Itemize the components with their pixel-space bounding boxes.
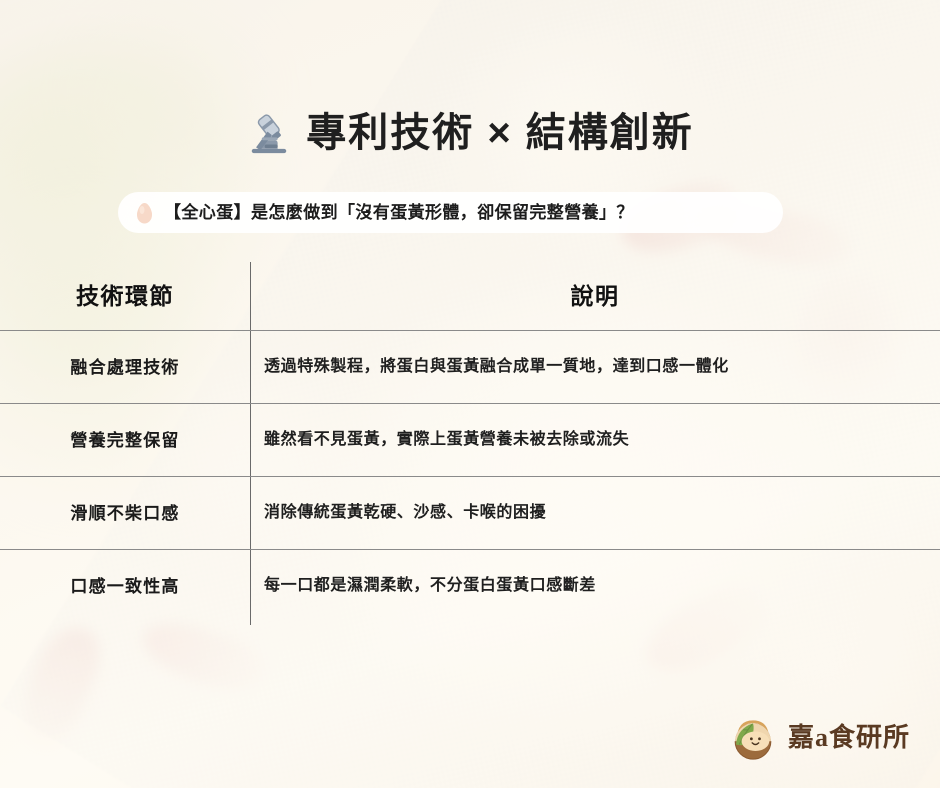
brand-logo: 嘉a食研所	[727, 712, 910, 764]
table-cell-key: 滑順不柴口感	[0, 505, 250, 522]
table-cell-key: 融合處理技術	[0, 359, 250, 376]
table-cell-value: 消除傳統蛋黃乾硬、沙感、卡喉的困擾	[250, 503, 940, 524]
page-header: 專利技術 × 結構創新	[0, 110, 940, 156]
table-row: 滑順不柴口感 消除傳統蛋黃乾硬、沙感、卡喉的困擾	[0, 476, 940, 549]
table-cell-key: 口感一致性高	[0, 578, 250, 595]
table-cell-value: 每一口都是濕潤柔軟，不分蛋白蛋黃口感斷差	[250, 576, 940, 597]
brand-name: 嘉a食研所	[788, 725, 910, 751]
table-row: 口感一致性高 每一口都是濕潤柔軟，不分蛋白蛋黃口感斷差	[0, 549, 940, 622]
table-cell-value: 透過特殊製程，將蛋白與蛋黃融合成單一質地，達到口感一體化	[250, 357, 940, 378]
subtitle-pill: 【全心蛋】是怎麼做到「沒有蛋黃形體，卻保留完整營養」？	[118, 192, 783, 233]
egg-icon	[136, 202, 153, 224]
page-title: 專利技術 × 結構創新	[306, 113, 694, 153]
table-header-cell-key: 技術環節	[0, 285, 250, 308]
microscope-icon	[246, 110, 292, 156]
table-header-row: 技術環節 說明	[0, 262, 940, 330]
basket-logo-icon	[727, 712, 779, 764]
subtitle-text: 【全心蛋】是怎麼做到「沒有蛋黃形體，卻保留完整營養」？	[164, 204, 634, 221]
table-row: 融合處理技術 透過特殊製程，將蛋白與蛋黃融合成單一質地，達到口感一體化	[0, 330, 940, 403]
table-row: 營養完整保留 雖然看不見蛋黃，實際上蛋黃營養未被去除或流失	[0, 403, 940, 476]
table-cell-key: 營養完整保留	[0, 432, 250, 449]
table-cell-value: 雖然看不見蛋黃，實際上蛋黃營養未被去除或流失	[250, 430, 940, 451]
tech-table: 技術環節 說明 融合處理技術 透過特殊製程，將蛋白與蛋黃融合成單一質地，達到口感…	[0, 262, 940, 622]
table-header-cell-value: 說明	[250, 285, 940, 308]
infographic-content: 專利技術 × 結構創新 【全心蛋】是怎麼做到「沒有蛋黃形體，卻保留完整營養」？ …	[0, 0, 940, 788]
